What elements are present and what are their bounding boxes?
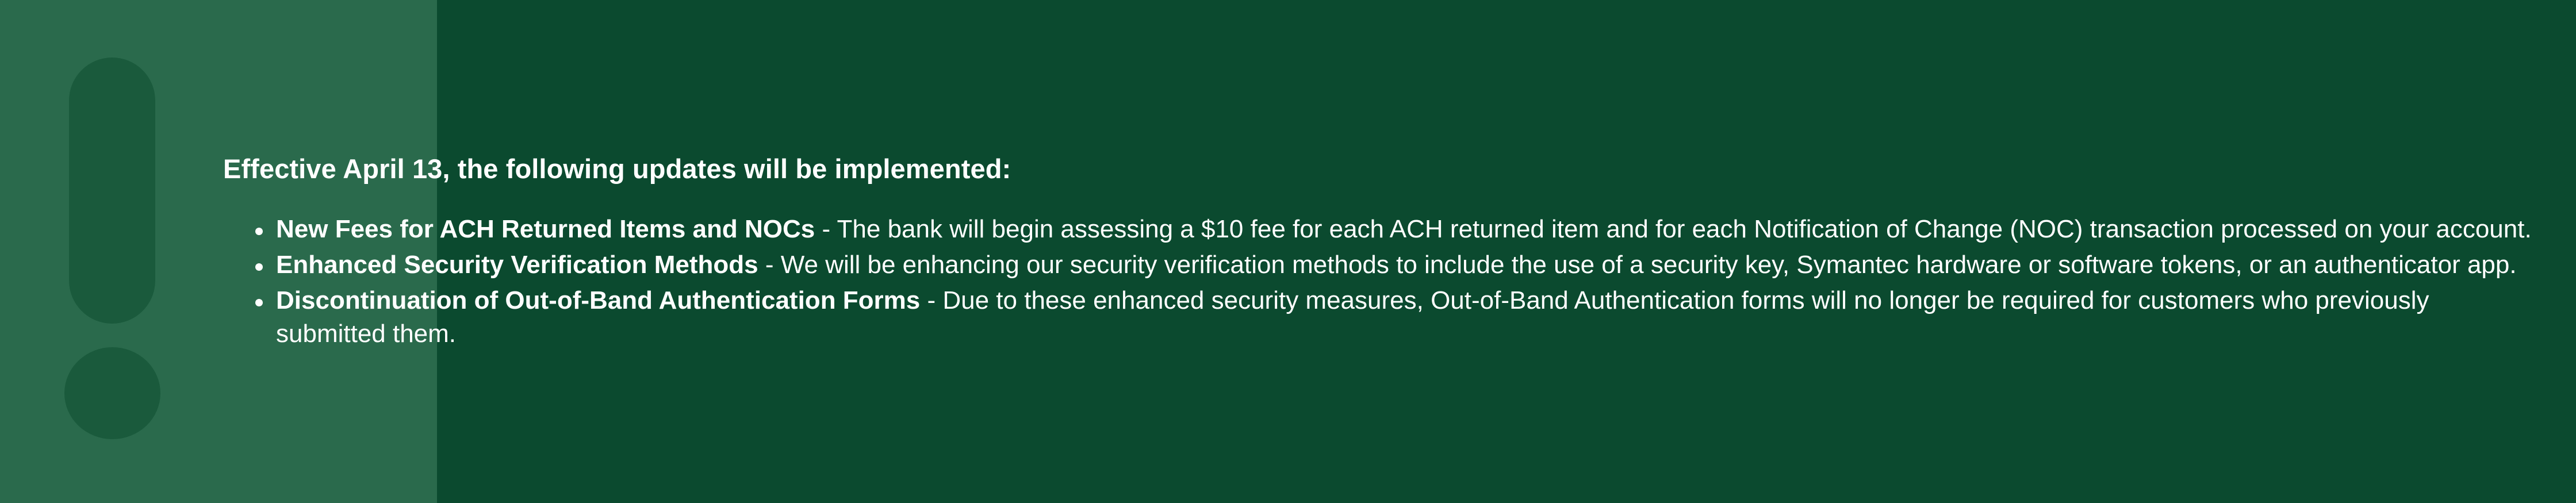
list-item: Discontinuation of Out-of-Band Authentic… <box>223 284 2535 351</box>
bullet-point-icon <box>255 263 263 271</box>
list-item: New Fees for ACH Returned Items and NOCs… <box>223 213 2535 246</box>
list-item-lead: Enhanced Security Verification Methods <box>276 251 758 279</box>
list-item-lead: Discontinuation of Out-of-Band Authentic… <box>276 286 920 314</box>
exclamation-mark-icon-stem <box>69 57 155 324</box>
banner-headline: Effective April 13, the following update… <box>223 152 2535 186</box>
list-item-body: - We will be enhancing our security veri… <box>758 251 2517 279</box>
bullet-point-icon <box>255 299 263 306</box>
notice-banner: Effective April 13, the following update… <box>0 0 2576 503</box>
list-item-lead: New Fees for ACH Returned Items and NOCs <box>276 215 815 243</box>
exclamation-mark-icon-dot <box>64 347 160 439</box>
bullet-point-icon <box>255 228 263 235</box>
list-item: Enhanced Security Verification Methods -… <box>223 248 2535 282</box>
list-item-body: - The bank will begin assessing a $10 fe… <box>815 215 2531 243</box>
banner-content: Effective April 13, the following update… <box>223 0 2535 503</box>
updates-list: New Fees for ACH Returned Items and NOCs… <box>223 213 2535 351</box>
